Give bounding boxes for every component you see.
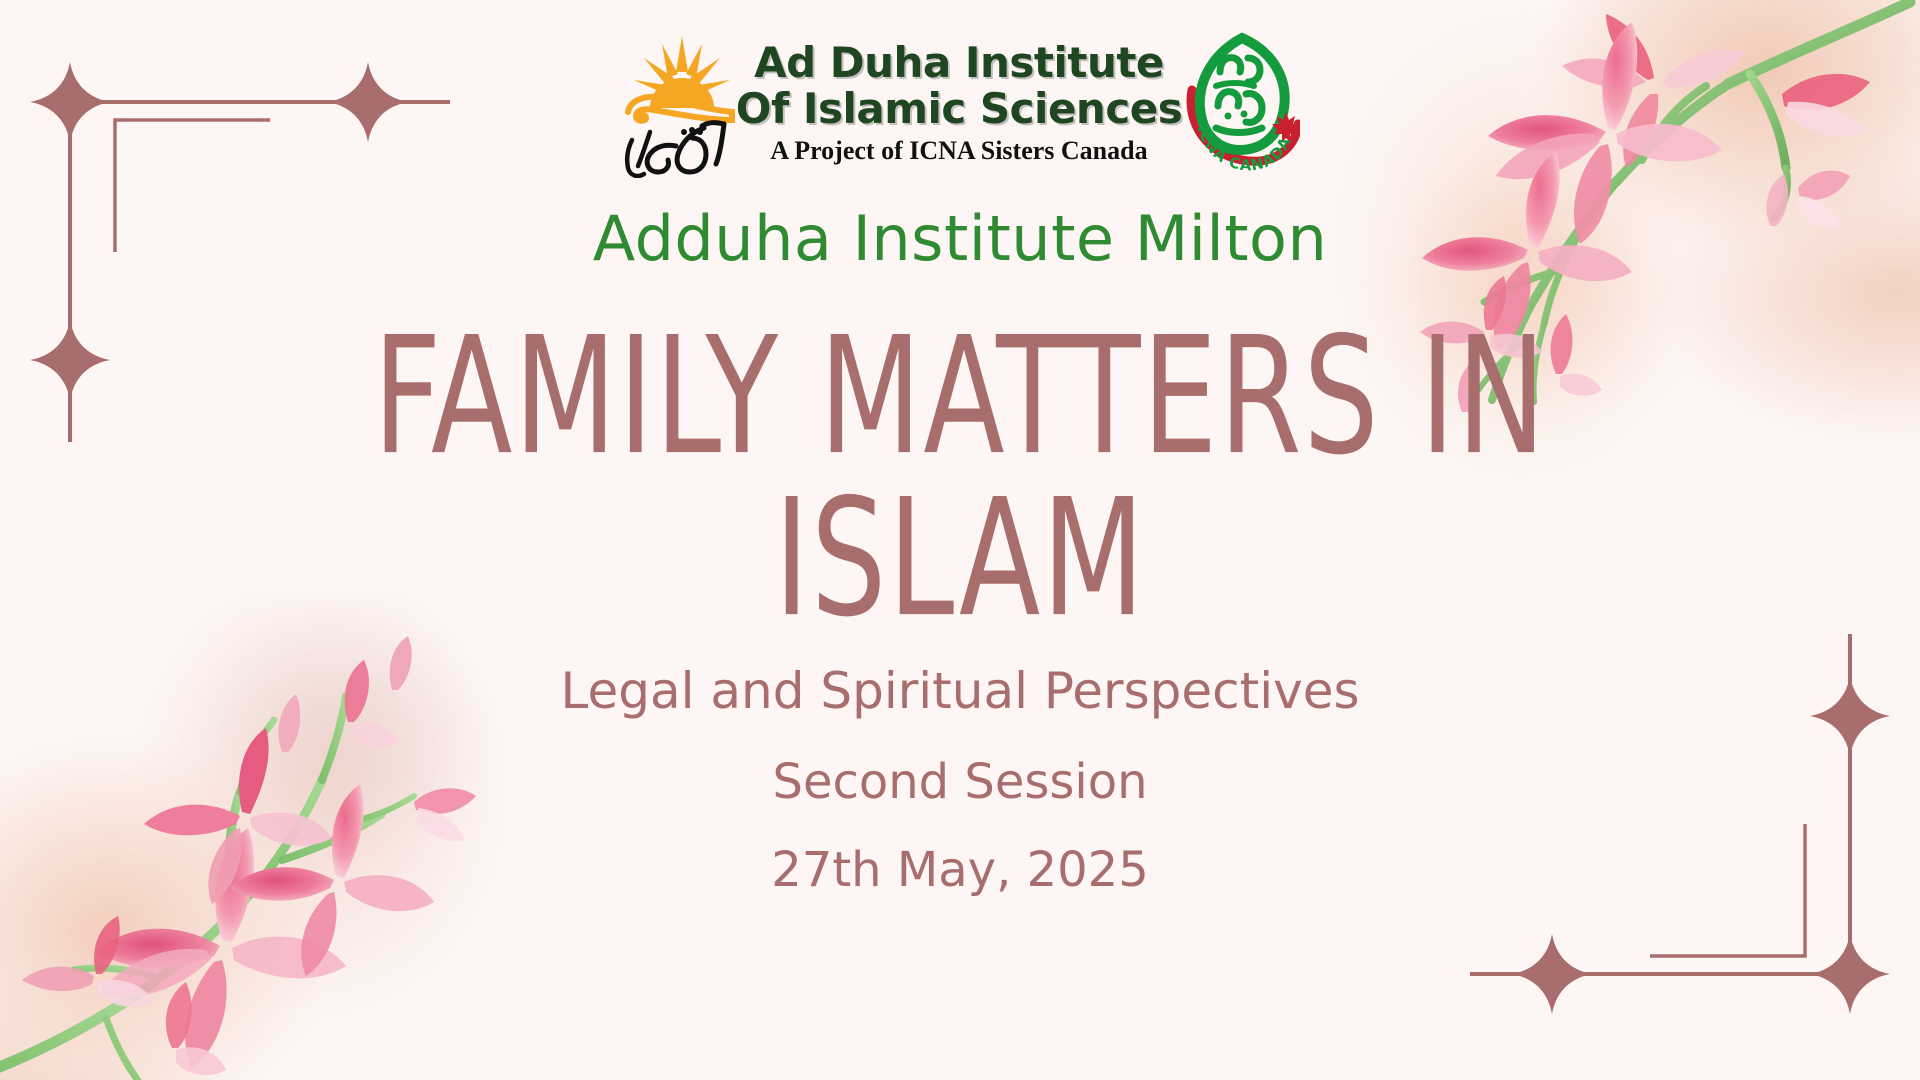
logo-lockup: Ad Duha Institute Of Islamic Sciences A … bbox=[620, 28, 1300, 178]
logo-tagline: A Project of ICNA Sisters Canada bbox=[770, 136, 1147, 166]
icna-canada-logo: ICNA CANADA bbox=[1182, 28, 1300, 178]
organization-name: Adduha Institute Milton bbox=[593, 204, 1328, 274]
title-line-2: ISLAM bbox=[373, 478, 1547, 640]
subtitle-tagline: Legal and Spiritual Perspectives bbox=[560, 662, 1359, 720]
session-label: Second Session bbox=[772, 754, 1147, 810]
logo-line-2: Of Islamic Sciences bbox=[736, 86, 1182, 132]
page-title: FAMILY MATTERS IN ISLAM bbox=[373, 316, 1547, 640]
poster-content: Ad Duha Institute Of Islamic Sciences A … bbox=[0, 0, 1920, 1080]
ad-duha-sunrise-mark bbox=[620, 28, 736, 178]
event-date: 27th May, 2025 bbox=[771, 842, 1148, 898]
sun-icon bbox=[628, 36, 732, 121]
logo-line-1: Ad Duha Institute bbox=[754, 40, 1164, 86]
title-line-1: FAMILY MATTERS IN bbox=[373, 316, 1547, 478]
logo-wordmark: Ad Duha Institute Of Islamic Sciences A … bbox=[736, 40, 1182, 166]
